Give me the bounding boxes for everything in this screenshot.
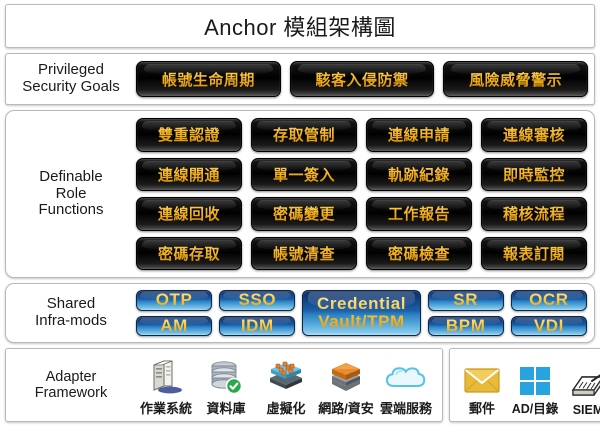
adapter-item-label: 作業系統 (140, 398, 192, 417)
section-privileged-security-goals: Privileged Security Goals 帳號生命周期 駭客入侵防禦 … (5, 53, 595, 105)
virtualization-icon (263, 357, 309, 397)
infra-label: BPM (446, 317, 486, 335)
role-label: 雙重認證 (158, 124, 220, 145)
infra-label: IDM (241, 317, 274, 335)
adapter-item-siem[interactable]: SIEM (564, 362, 600, 417)
goal-label: 帳號生命周期 (162, 69, 255, 90)
infra-label: SSO (238, 291, 276, 309)
role-button-audit-process[interactable]: 稽核流程 (481, 197, 587, 231)
adapter-item-label: 網路/資安 (318, 398, 374, 417)
adapter-framework-main-panel: Adapter Framework (5, 348, 443, 422)
role-label: 稽核流程 (503, 203, 565, 224)
role-button-account-inventory[interactable]: 帳號清查 (251, 237, 357, 271)
section-label-adapter-framework: Adapter Framework (6, 349, 136, 421)
servers-icon (143, 357, 189, 397)
goal-button-account-lifecycle[interactable]: 帳號生命周期 (136, 61, 281, 97)
goal-button-risk-threat-alert[interactable]: 風險威脅警示 (443, 61, 588, 97)
role-label: 存取管制 (273, 124, 335, 145)
section-label-definable-role-functions: Definable Role Functions (6, 111, 136, 277)
section-label-shared-infra-mods: Shared Infra-mods (6, 284, 136, 342)
adapter-item-ad-directory[interactable]: AD/目錄 (506, 357, 564, 417)
infra-label: Credential Vault/TPM (317, 295, 406, 331)
infra-column-sr-bpm: SR BPM (428, 290, 504, 336)
infra-button-sr[interactable]: SR (428, 290, 504, 311)
siem-device-icon (565, 362, 600, 402)
role-label: 連線回收 (158, 203, 220, 224)
infra-button-credential-vault-tpm[interactable]: Credential Vault/TPM (302, 290, 420, 336)
infra-button-sso[interactable]: SSO (219, 290, 295, 311)
role-button-audit-trail[interactable]: 軌跡紀錄 (366, 158, 472, 192)
infra-button-ocr[interactable]: OCR (511, 290, 587, 311)
role-button-password-check[interactable]: 密碼檢查 (366, 237, 472, 271)
adapter-framework-secondary-items: 郵件 AD/目錄 (450, 349, 600, 421)
role-button-single-sign-on[interactable]: 單一簽入 (251, 158, 357, 192)
adapter-item-label: AD/目錄 (512, 398, 559, 417)
adapter-item-label: SIEM (573, 403, 600, 417)
adapter-item-label: 資料庫 (206, 398, 245, 417)
infra-column-sso-idm: SSO IDM (219, 290, 295, 336)
role-label: 軌跡紀錄 (388, 164, 450, 185)
role-button-work-report[interactable]: 工作報告 (366, 197, 472, 231)
shared-infra-mods-items: OTP AM SSO IDM Credential Vault/TPM SR B… (136, 284, 594, 342)
goal-button-hacker-intrusion-defense[interactable]: 駭客入侵防禦 (290, 61, 435, 97)
adapter-item-label: 虛擬化 (266, 398, 305, 417)
infra-button-am[interactable]: AM (136, 316, 212, 337)
role-label: 工作報告 (388, 203, 450, 224)
role-button-report-subscription[interactable]: 報表訂閱 (481, 237, 587, 271)
goal-label: 風險威脅警示 (469, 69, 562, 90)
section-adapter-framework: Adapter Framework (5, 348, 595, 422)
role-label: 單一簽入 (273, 164, 335, 185)
diagram-title-panel: Anchor 模組架構圖 (5, 4, 595, 48)
role-label: 連線申請 (388, 124, 450, 145)
adapter-item-label: 郵件 (469, 398, 495, 417)
adapter-framework-secondary-panel: 郵件 AD/目錄 (449, 348, 600, 422)
role-button-connection-review[interactable]: 連線審核 (481, 118, 587, 152)
anchor-architecture-diagram: Anchor 模組架構圖 Privileged Security Goals 帳… (0, 0, 600, 434)
infra-label: SR (453, 291, 478, 309)
adapter-item-mail[interactable]: 郵件 (458, 357, 506, 417)
adapter-item-network-security[interactable]: 網路/資安 (316, 357, 376, 417)
cloud-icon (383, 357, 429, 397)
infra-button-idm[interactable]: IDM (219, 316, 295, 337)
role-button-realtime-monitoring[interactable]: 即時監控 (481, 158, 587, 192)
role-label: 密碼檢查 (388, 243, 450, 264)
goal-label: 駭客入侵防禦 (316, 69, 409, 90)
role-label: 連線開通 (158, 164, 220, 185)
network-security-icon (323, 357, 369, 397)
infra-label: AM (160, 317, 188, 335)
role-label: 報表訂閱 (503, 243, 565, 264)
role-label: 帳號清查 (273, 243, 335, 264)
role-button-password-change[interactable]: 密碼變更 (251, 197, 357, 231)
mail-envelope-icon (459, 357, 505, 397)
role-label: 即時監控 (503, 164, 565, 185)
adapter-framework-main-items: 作業系統 (136, 349, 442, 421)
infra-label: OTP (156, 291, 193, 309)
infra-column-otp-am: OTP AM (136, 290, 212, 336)
role-label: 連線審核 (503, 124, 565, 145)
infra-button-bpm[interactable]: BPM (428, 316, 504, 337)
section-shared-infra-mods: Shared Infra-mods OTP AM SSO IDM Credent… (5, 283, 595, 343)
role-button-password-retrieval[interactable]: 密碼存取 (136, 237, 242, 271)
role-label: 密碼變更 (273, 203, 335, 224)
page-title: Anchor 模組架構圖 (204, 10, 396, 42)
infra-column-ocr-vdi: OCR VDI (511, 290, 587, 336)
definable-role-functions-grid: 雙重認證 存取管制 連線申請 連線審核 連線開通 單一簽入 軌跡紀錄 即時監控 … (136, 111, 594, 277)
role-label: 密碼存取 (158, 243, 220, 264)
windows-logo-icon (512, 357, 558, 397)
infra-button-otp[interactable]: OTP (136, 290, 212, 311)
role-button-two-factor-auth[interactable]: 雙重認證 (136, 118, 242, 152)
infra-button-vdi[interactable]: VDI (511, 316, 587, 337)
adapter-item-cloud-service[interactable]: 雲端服務 (376, 357, 436, 417)
role-button-connection-revoke[interactable]: 連線回收 (136, 197, 242, 231)
database-check-icon (203, 357, 249, 397)
section-label-privileged-security-goals: Privileged Security Goals (6, 54, 136, 104)
role-button-access-control[interactable]: 存取管制 (251, 118, 357, 152)
adapter-item-virtualization[interactable]: 虛擬化 (256, 357, 316, 417)
adapter-item-database[interactable]: 資料庫 (196, 357, 256, 417)
adapter-item-operating-system[interactable]: 作業系統 (136, 357, 196, 417)
section-definable-role-functions: Definable Role Functions 雙重認證 存取管制 連線申請 … (5, 110, 595, 278)
infra-vault-wrapper: Credential Vault/TPM (302, 290, 420, 336)
infra-label: OCR (529, 291, 569, 309)
infra-label: VDI (534, 317, 564, 335)
role-button-connection-provisioning[interactable]: 連線開通 (136, 158, 242, 192)
privileged-security-goals-items: 帳號生命周期 駭客入侵防禦 風險威脅警示 (136, 54, 594, 104)
role-button-connection-request[interactable]: 連線申請 (366, 118, 472, 152)
adapter-item-label: 雲端服務 (380, 398, 432, 417)
